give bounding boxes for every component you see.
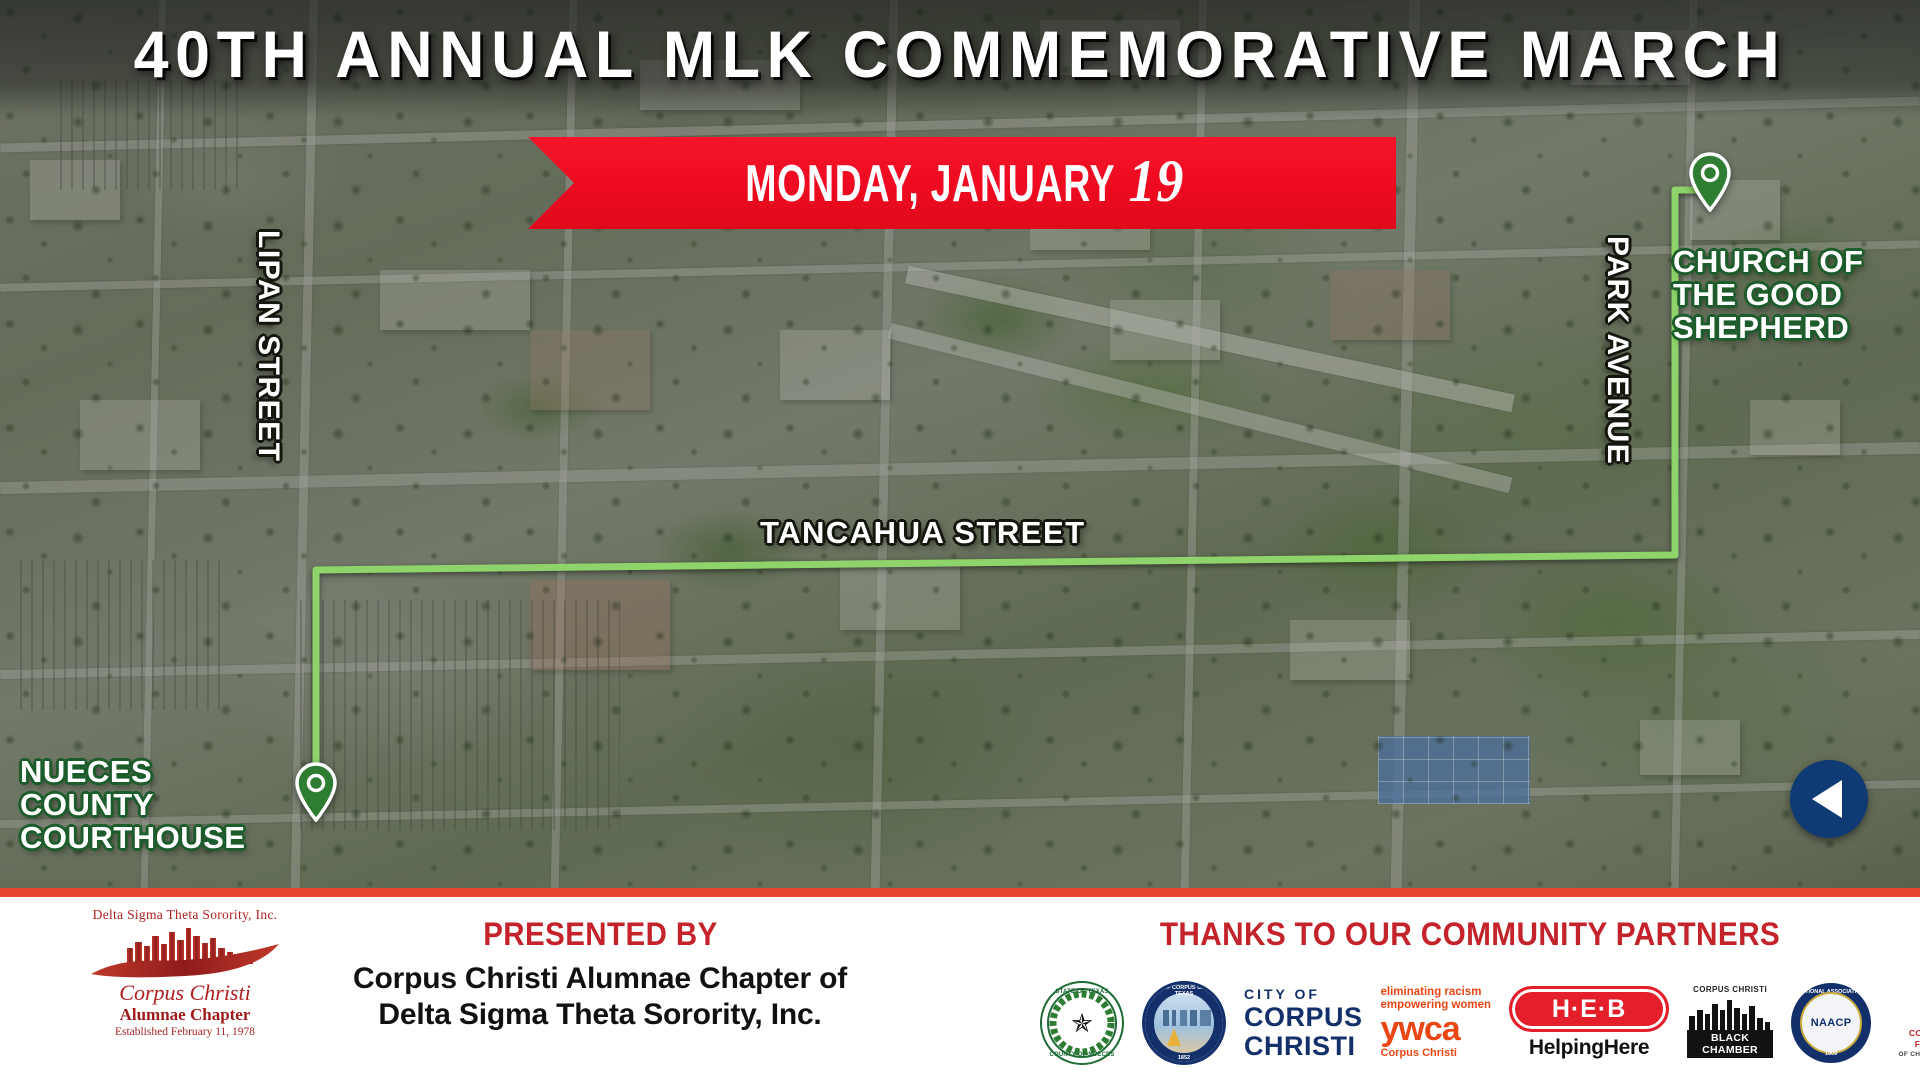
heb-pill-logo: H·E·B	[1509, 986, 1669, 1032]
delta-logo-chapter: Alumnae Chapter	[80, 1005, 290, 1024]
ywca-chapter: Corpus Christi	[1381, 1046, 1492, 1060]
partner-logo-naacp[interactable]: NATIONAL ASSOCIATION NAACP 1909	[1791, 983, 1871, 1063]
date-banner-day: MONDAY, JANUARY	[745, 158, 1115, 210]
presented-by-block: PRESENTED BY Corpus Christi Alumnae Chap…	[300, 915, 900, 1033]
date-banner-number: 19	[1128, 155, 1184, 207]
partner-logo-city-seal[interactable]: CITY OF CORPUS CHRISTI TEXAS 1852	[1142, 981, 1226, 1065]
landmark-label-church: CHURCH OF THE GOOD SHEPHERD	[1673, 245, 1864, 344]
ywca-tagline1: eliminating racism	[1381, 986, 1492, 999]
footer: Delta Sigma Theta Sorority, Inc.	[0, 897, 1920, 1080]
delta-logo-city: Corpus Christi	[80, 981, 290, 1005]
compass-arrow-icon[interactable]	[1790, 760, 1868, 838]
nueces-county-seal-icon: STATE OF TEXAS COUNTY OF NUECES ✯	[1040, 981, 1124, 1065]
heb-tagline: HelpingHere	[1509, 1036, 1669, 1060]
street-label-lipan: LIPAN STREET	[251, 230, 285, 462]
date-banner-text: MONDAY, JANUARY19	[745, 155, 1178, 212]
black-chamber-top: CORPUS CHRISTI	[1687, 985, 1773, 995]
partner-logo-coastal-bend-fellowship[interactable]: COASTAL BEND FELLOWSHIP OF CHRISTIAN CHU…	[1889, 988, 1920, 1059]
naacp-label: NAACP	[1794, 1017, 1868, 1029]
map-pin-church[interactable]	[1687, 152, 1733, 212]
partner-logo-nueces-county[interactable]: STATE OF TEXAS COUNTY OF NUECES ✯	[1040, 981, 1124, 1065]
delta-sigma-theta-logo: Delta Sigma Theta Sorority, Inc.	[80, 907, 290, 1067]
naacp-seal-icon: NATIONAL ASSOCIATION NAACP 1909	[1791, 983, 1871, 1063]
city-wordmark-line2: CORPUS	[1244, 1003, 1363, 1032]
map-pin-courthouse[interactable]	[293, 762, 339, 822]
date-banner: MONDAY, JANUARY19	[528, 137, 1396, 229]
street-label-park-avenue: PARK AVENUE	[1600, 236, 1634, 465]
ywca-wordmark: ywca	[1381, 1012, 1492, 1046]
partners-heading: THANKS TO OUR COMMUNITY PARTNERS	[1070, 915, 1870, 953]
page-title: 40TH ANNUAL MLK COMMEMORATIVE MARCH	[48, 18, 1872, 90]
delta-logo-established: Established February 11, 1978	[80, 1025, 290, 1039]
cbf-line2: OF CHRISTIAN CHURCHES	[1889, 1050, 1920, 1059]
presented-org-line2: Delta Sigma Theta Sorority, Inc.	[300, 997, 900, 1033]
seal-bottom-text: COUNTY OF NUECES	[1040, 1052, 1124, 1058]
black-chamber-skyline-icon	[1687, 996, 1771, 1030]
city-wordmark-line3: CHRISTI	[1244, 1032, 1363, 1061]
presented-org-line1: Corpus Christi Alumnae Chapter of	[300, 961, 900, 997]
partner-logo-city-wordmark[interactable]: CITY OF CORPUS CHRISTI	[1244, 986, 1363, 1061]
partner-logo-black-chamber[interactable]: CORPUS CHRISTI	[1687, 985, 1773, 1061]
presented-by-organization: Corpus Christi Alumnae Chapter of Delta …	[300, 961, 900, 1033]
cbf-line1: COASTAL BEND FELLOWSHIP	[1889, 1028, 1920, 1050]
ccseal-year: 1852	[1145, 1055, 1223, 1061]
skyline-icon	[85, 926, 285, 980]
ccseal-band-text: CITY OF CORPUS CHRISTI TEXAS	[1145, 985, 1223, 997]
partners-logo-row: STATE OF TEXAS COUNTY OF NUECES ✯ CITY O…	[1040, 973, 1920, 1073]
street-label-tancahua: TANCAHUA STREET	[760, 515, 1086, 551]
black-chamber-bar: BLACK CHAMBER	[1687, 1030, 1773, 1058]
naacp-year: 1909	[1794, 1051, 1868, 1057]
presented-by-label: PRESENTED BY	[483, 915, 718, 953]
delta-logo-top-text: Delta Sigma Theta Sorority, Inc.	[80, 907, 290, 922]
star-icon: ✯	[1071, 1010, 1093, 1036]
partner-logo-heb[interactable]: H·E·B HelpingHere	[1509, 986, 1669, 1060]
footer-divider	[0, 888, 1920, 897]
city-of-corpus-christi-seal-icon: CITY OF CORPUS CHRISTI TEXAS 1852	[1142, 981, 1226, 1065]
compass-triangle	[1812, 780, 1842, 818]
satellite-map: 40TH ANNUAL MLK COMMEMORATIVE MARCH MOND…	[0, 0, 1920, 888]
landmark-label-courthouse: NUECES COUNTY COURTHOUSE	[20, 755, 245, 854]
city-wordmark-line1: CITY OF	[1244, 986, 1363, 1003]
sunrise-cross-icon	[1912, 988, 1920, 1026]
seal-top-text: STATE OF TEXAS	[1040, 989, 1124, 995]
partner-logo-ywca[interactable]: eliminating racism empowering women ywca…	[1381, 986, 1492, 1060]
